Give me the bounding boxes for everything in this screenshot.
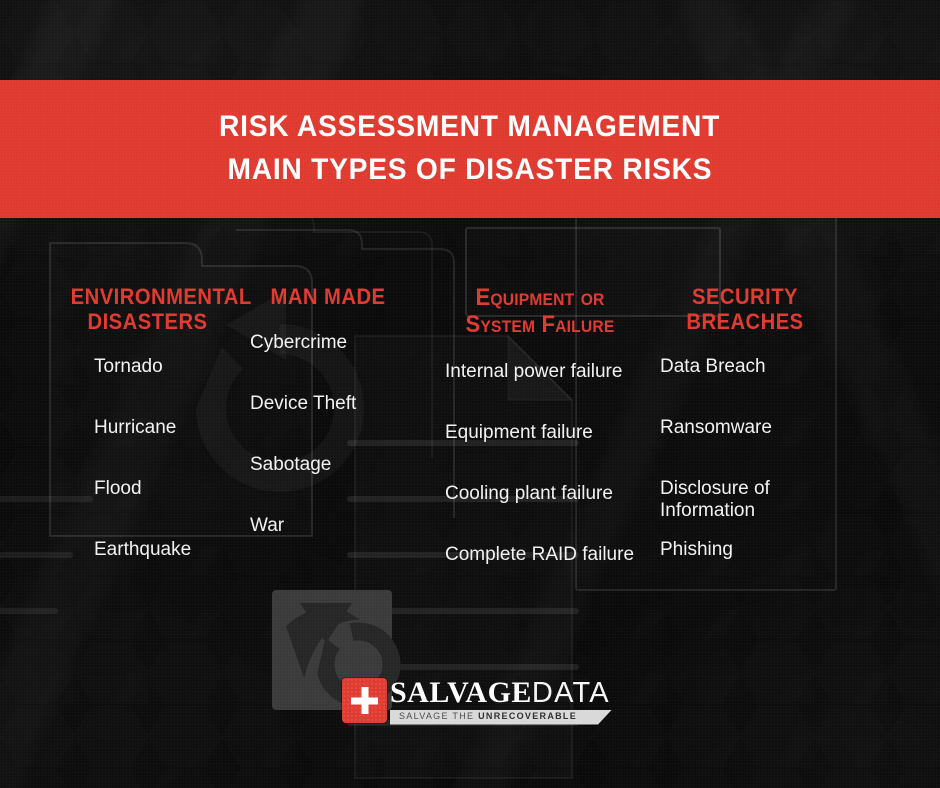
risk-list-environmental-disasters: Tornado Hurricane Flood Earthquake — [68, 356, 215, 600]
list-item: Internal power failure — [445, 361, 635, 422]
logo-tagline-prefix: SALVAGE THE — [399, 711, 478, 721]
risk-list-man-made: Cybercrime Device Theft Sabotage War — [248, 332, 415, 576]
column-environmental-disasters: ENVIRONMENTAL DISASTERS Tornado Hurrican… — [0, 285, 215, 605]
list-item: Flood — [94, 478, 215, 539]
list-item: Sabotage — [250, 454, 415, 515]
list-item: Complete RAID failure — [445, 544, 635, 605]
logo-tagline-container: SALVAGE THE UNRECOVERABLE — [390, 710, 612, 725]
list-item: Hurricane — [94, 417, 215, 478]
list-item: Device Theft — [250, 393, 415, 454]
risk-category-columns: ENVIRONMENTAL DISASTERS Tornado Hurrican… — [0, 285, 940, 605]
column-title-security-breaches: SECURITY BREACHES — [667, 285, 823, 334]
list-item: Earthquake — [94, 539, 215, 600]
risk-list-equipment-or-system-failure: Internal power failure Equipment failure… — [445, 361, 635, 605]
infographic-canvas: RISK ASSESSMENT MANAGEMENT MAIN TYPES OF… — [0, 0, 940, 788]
column-man-made: MAN MADE Cybercrime Device Theft Sabotag… — [215, 285, 415, 605]
list-item: War — [250, 515, 415, 576]
list-item: Disclosure of Information — [660, 478, 865, 539]
list-item: Ransomware — [660, 417, 865, 478]
list-item: Data Breach — [660, 356, 865, 417]
list-item: Cybercrime — [250, 332, 415, 393]
logo-word-data: DATA — [532, 677, 610, 709]
list-item: Cooling plant failure — [445, 483, 635, 544]
logo-word-salvage: SALVAGE — [390, 676, 532, 709]
column-equipment-or-system-failure: Equipment or System Failure Internal pow… — [415, 285, 635, 605]
column-title-equipment-or-system-failure: Equipment or System Failure — [453, 285, 628, 339]
risk-list-security-breaches: Data Breach Ransomware Disclosure of Inf… — [660, 356, 865, 600]
column-security-breaches: SECURITY BREACHES Data Breach Ransomware… — [635, 285, 865, 605]
list-item: Equipment failure — [445, 422, 635, 483]
list-item: Tornado — [94, 356, 215, 417]
plus-icon — [342, 678, 387, 723]
logo-wordmark: SALVAGEDATA — [390, 678, 612, 708]
logo-text-group: SALVAGEDATA SALVAGE THE UNRECOVERABLE — [390, 678, 612, 725]
list-item: Phishing — [660, 539, 865, 600]
column-title-man-made: MAN MADE — [254, 285, 401, 310]
salvagedata-logo: SALVAGEDATA SALVAGE THE UNRECOVERABLE — [342, 678, 612, 725]
logo-tagline-strong: UNRECOVERABLE — [478, 711, 577, 721]
logo-tagline-text: SALVAGE THE UNRECOVERABLE — [399, 711, 577, 721]
page-title-line-1: RISK ASSESSMENT MANAGEMENT — [219, 106, 720, 149]
header-banner: RISK ASSESSMENT MANAGEMENT MAIN TYPES OF… — [0, 80, 940, 218]
column-title-environmental-disasters: ENVIRONMENTAL DISASTERS — [71, 285, 225, 334]
page-title-line-2: MAIN TYPES OF DISASTER RISKS — [228, 149, 713, 192]
